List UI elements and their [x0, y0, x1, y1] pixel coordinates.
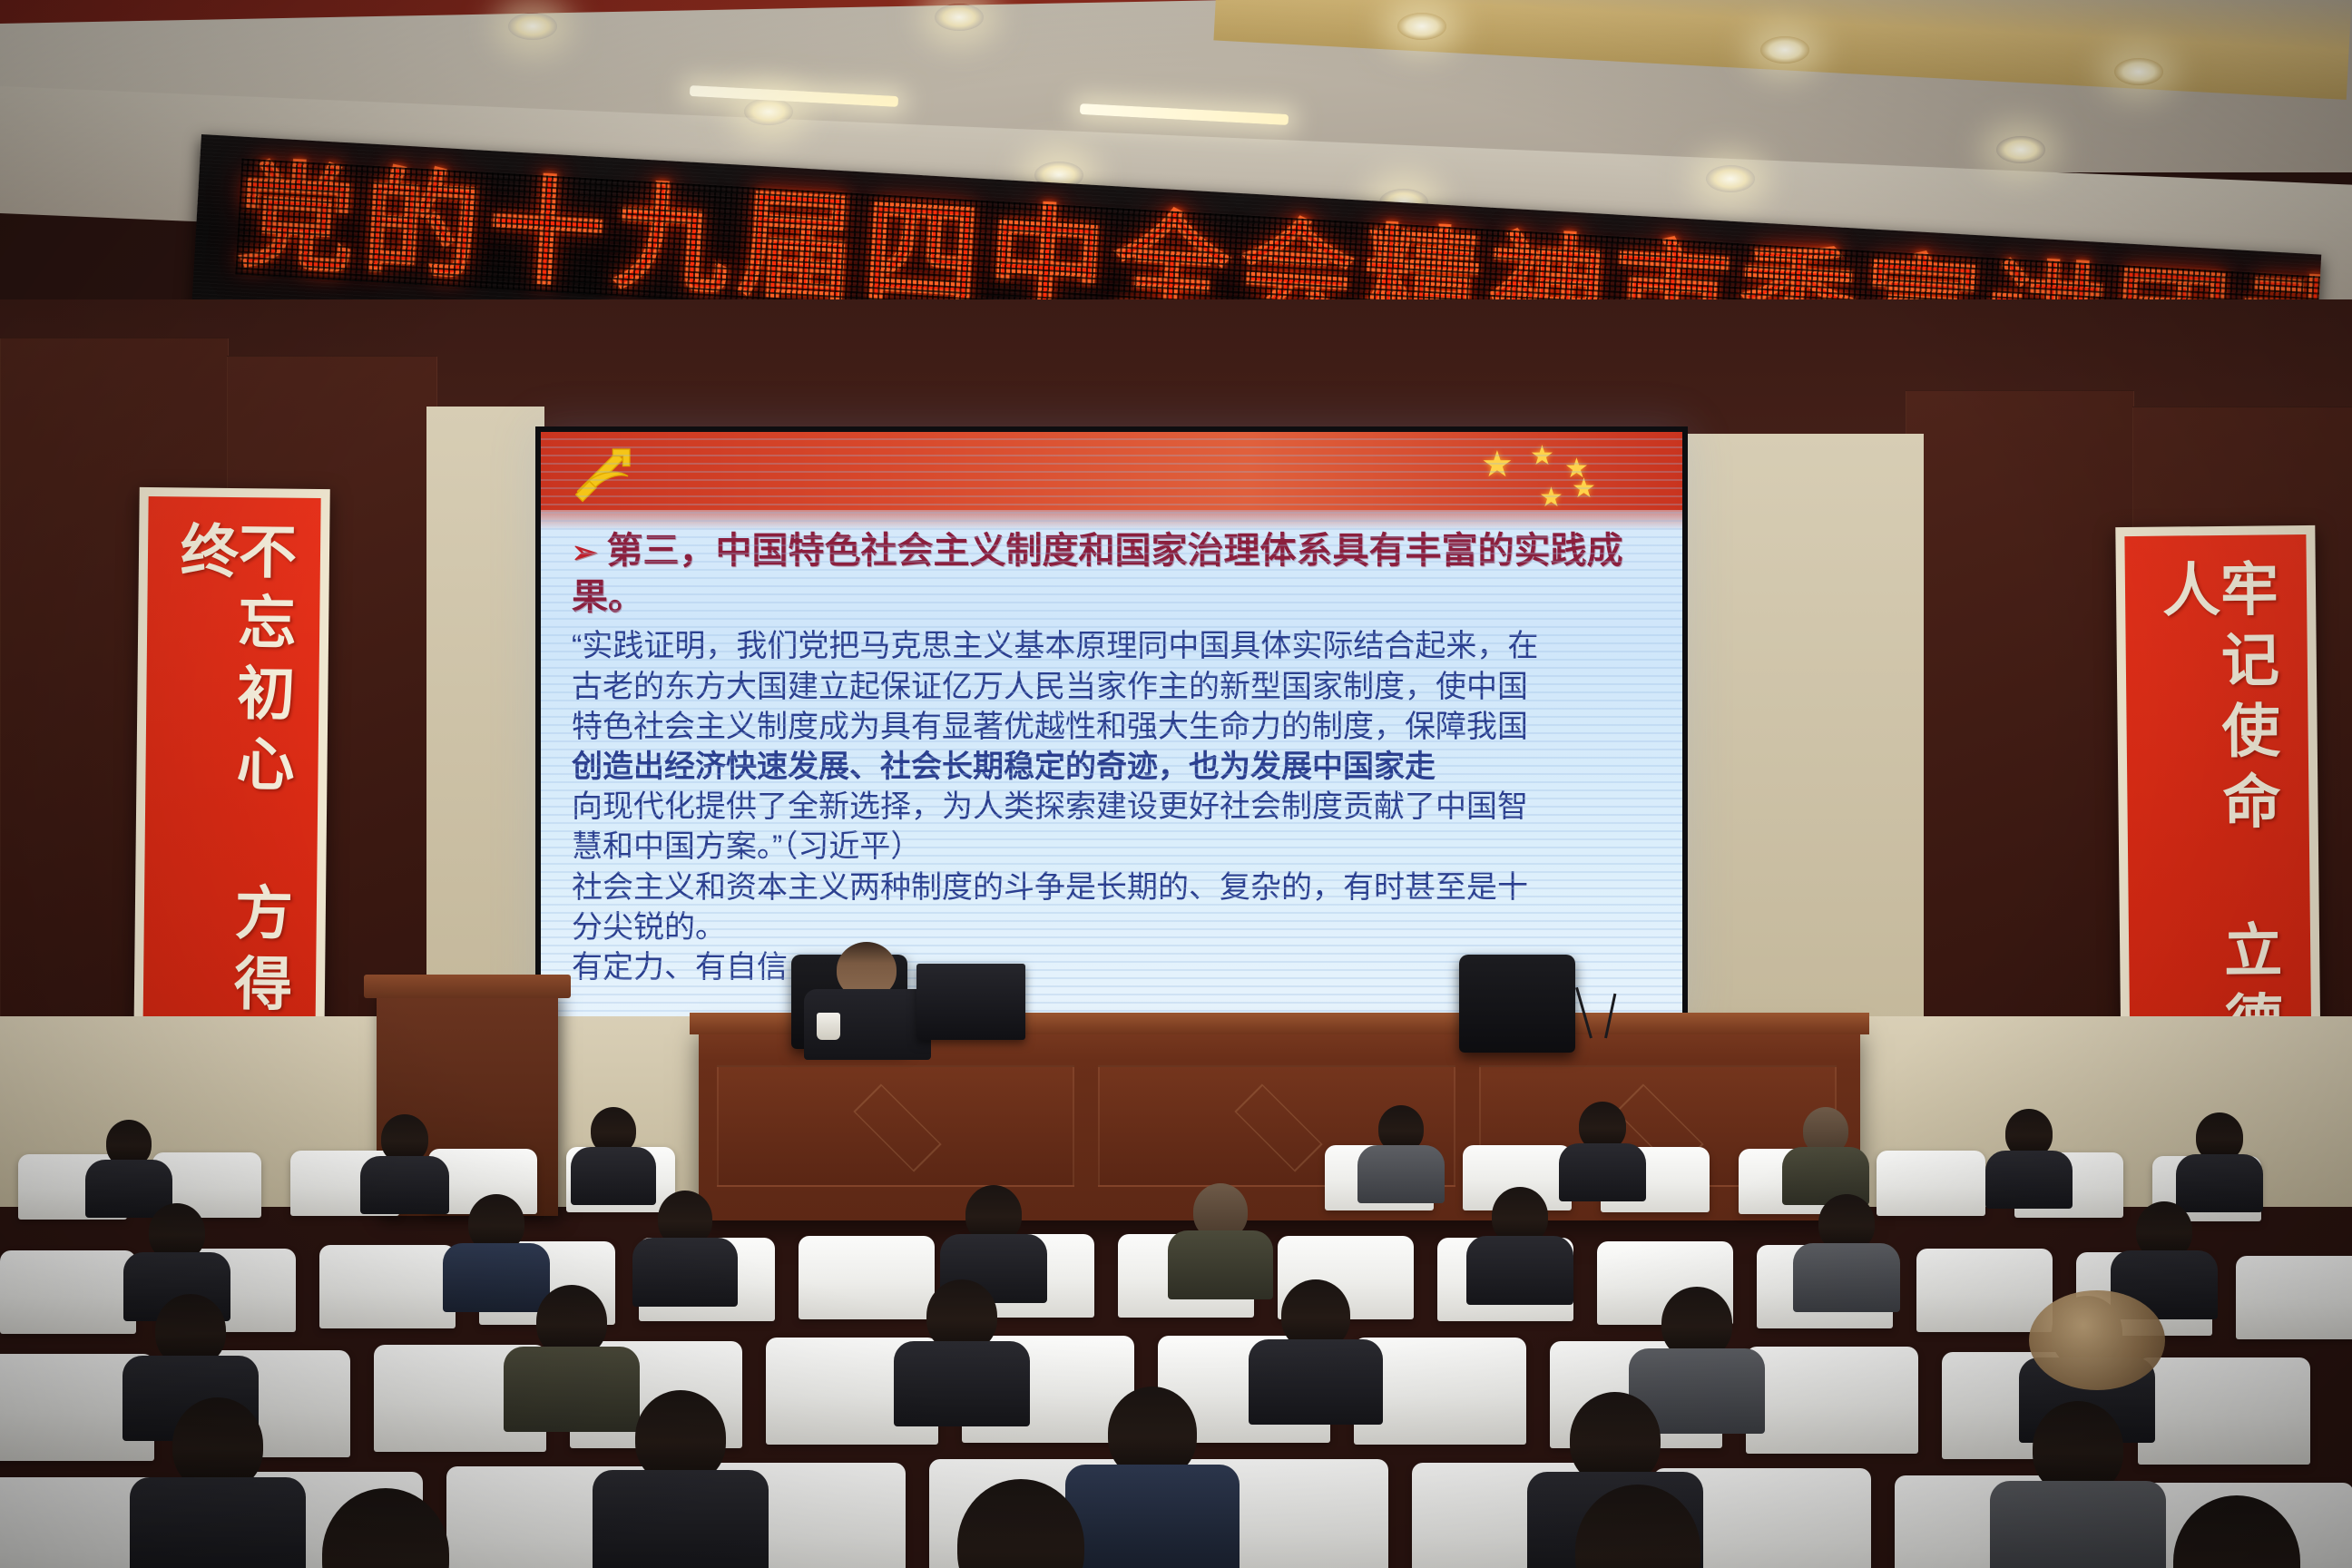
empty-chair [1459, 955, 1575, 1053]
attendee [907, 1479, 1134, 1568]
attendee [363, 1114, 446, 1205]
attendee-head [1575, 1485, 1700, 1568]
seat-cover [1746, 1347, 1918, 1454]
auditorium-scene: 党的十九届四中全会精神市委宣讲团武威职业学院宣讲报告会 不忘初心 方得始终 牢记… [0, 0, 2352, 1568]
attendee [898, 1279, 1025, 1416]
attendee [1987, 1109, 2071, 1200]
attendee-shoulders [1466, 1236, 1573, 1305]
seat-cover [2138, 1357, 2310, 1465]
party-emblem-icon [563, 439, 650, 506]
attendee [599, 1390, 762, 1563]
slide-heading-text: 第三，中国特色社会主义制度和国家治理体系具有丰富的实践成果。 [572, 531, 1623, 617]
attendee-head [322, 1488, 449, 1568]
attendee [1359, 1105, 1443, 1196]
attendee-shoulders [894, 1341, 1030, 1426]
attendee [2114, 1201, 2214, 1310]
seat-cover [319, 1245, 456, 1328]
projection-screen: ★ ★ ★ ★ ★ ➢第三，中国特色社会主义制度和国家治理体系具有丰富的实践成果… [541, 432, 1682, 1020]
slide-quote-paragraph: “实践证明，我们党把马克思主义基本原理同中国具体实际结合起来，在 古老的东方大国… [572, 626, 1657, 867]
attendee [87, 1120, 171, 1210]
attendee [1561, 1102, 1644, 1192]
bullet-arrow-icon: ➢ [572, 535, 598, 570]
attendee [1252, 1279, 1379, 1416]
star-icon: ★ [1481, 446, 1514, 483]
podium-top [364, 975, 571, 998]
seat-cover [0, 1250, 136, 1334]
slide-paragraph-line: 向现代化提供了全新选择，为人类探索建设更好社会制度贡献了中国智 [572, 787, 1657, 827]
attendee-shoulders [360, 1156, 449, 1214]
slide-extra-line: 社会主义和资本主义两种制度的斗争是长期的、复杂的，有时甚至是十 [572, 867, 1657, 907]
slide-paragraph-line: 古老的东方大国建立起保证亿万人民当家作主的新型国家制度，使中国 [572, 667, 1657, 707]
ceiling-downlight [1996, 136, 2045, 163]
slide-paragraph-line: 特色社会主义制度成为具有显著优越性和强大生命力的制度，保障我国 [572, 707, 1657, 747]
slide-content: ➢第三，中国特色社会主义制度和国家治理体系具有丰富的实践成果。 “实践证明，我们… [541, 519, 1682, 1020]
slide-paragraph-line: “实践证明，我们党把马克思主义基本原理同中国具体实际结合起来，在 [572, 626, 1657, 666]
attendee-head [957, 1479, 1084, 1568]
five-stars-group: ★ ★ ★ ★ ★ [1474, 445, 1637, 499]
attendee [272, 1488, 499, 1568]
attendee-shoulders [632, 1238, 738, 1307]
wall-beige-right [1679, 434, 1924, 1060]
water-cup [817, 1013, 840, 1040]
ceiling-downlight [1706, 165, 1755, 192]
attendee-head [2173, 1495, 2300, 1568]
attendee-shoulders [593, 1470, 769, 1568]
slide-paragraph-line-bold: 创造出经济快速发展、社会长期稳定的奇迹，也为发展中国家走 [572, 747, 1657, 787]
ceiling-downlight [744, 98, 793, 125]
attendee [572, 1107, 655, 1198]
laptop [916, 964, 1025, 1040]
slide-extra-line: 分尖锐的。 [572, 907, 1657, 947]
seat-cover [2236, 1256, 2352, 1339]
star-icon: ★ [1572, 475, 1596, 503]
attendee [1797, 1194, 1896, 1303]
attendee-shoulders [1357, 1145, 1445, 1203]
attendee-shoulders [1249, 1339, 1383, 1425]
attendee [1784, 1107, 1867, 1198]
attendee [2123, 1495, 2350, 1568]
ceiling-downlight [935, 4, 984, 31]
attendee-shoulders [1559, 1143, 1646, 1201]
fur-hood [2029, 1290, 2165, 1390]
star-icon: ★ [1539, 485, 1563, 512]
attendee [2178, 1112, 2261, 1203]
attendee-shoulders [1793, 1243, 1900, 1312]
ceiling-downlight [2114, 58, 2163, 85]
attendee [635, 1191, 735, 1299]
ceiling-downlight [1397, 13, 1446, 40]
ceiling-downlight [508, 13, 557, 40]
attendee-shoulders [1985, 1151, 2073, 1209]
slide-heading: ➢第三，中国特色社会主义制度和国家治理体系具有丰富的实践成果。 [572, 528, 1657, 621]
attendee [944, 1185, 1044, 1294]
audience-area [0, 1089, 2352, 1568]
ceiling-downlight [1760, 36, 1809, 64]
attendee [1470, 1187, 1570, 1296]
projection-screen-frame: ★ ★ ★ ★ ★ ➢第三，中国特色社会主义制度和国家治理体系具有丰富的实践成果… [535, 426, 1688, 1025]
attendee [1171, 1183, 1270, 1292]
slide-paragraph-line: 慧和中国方案。”（习近平） [572, 827, 1657, 867]
star-icon: ★ [1530, 443, 1554, 470]
wall-beige-left [426, 407, 544, 1042]
attendee [1524, 1485, 1751, 1568]
